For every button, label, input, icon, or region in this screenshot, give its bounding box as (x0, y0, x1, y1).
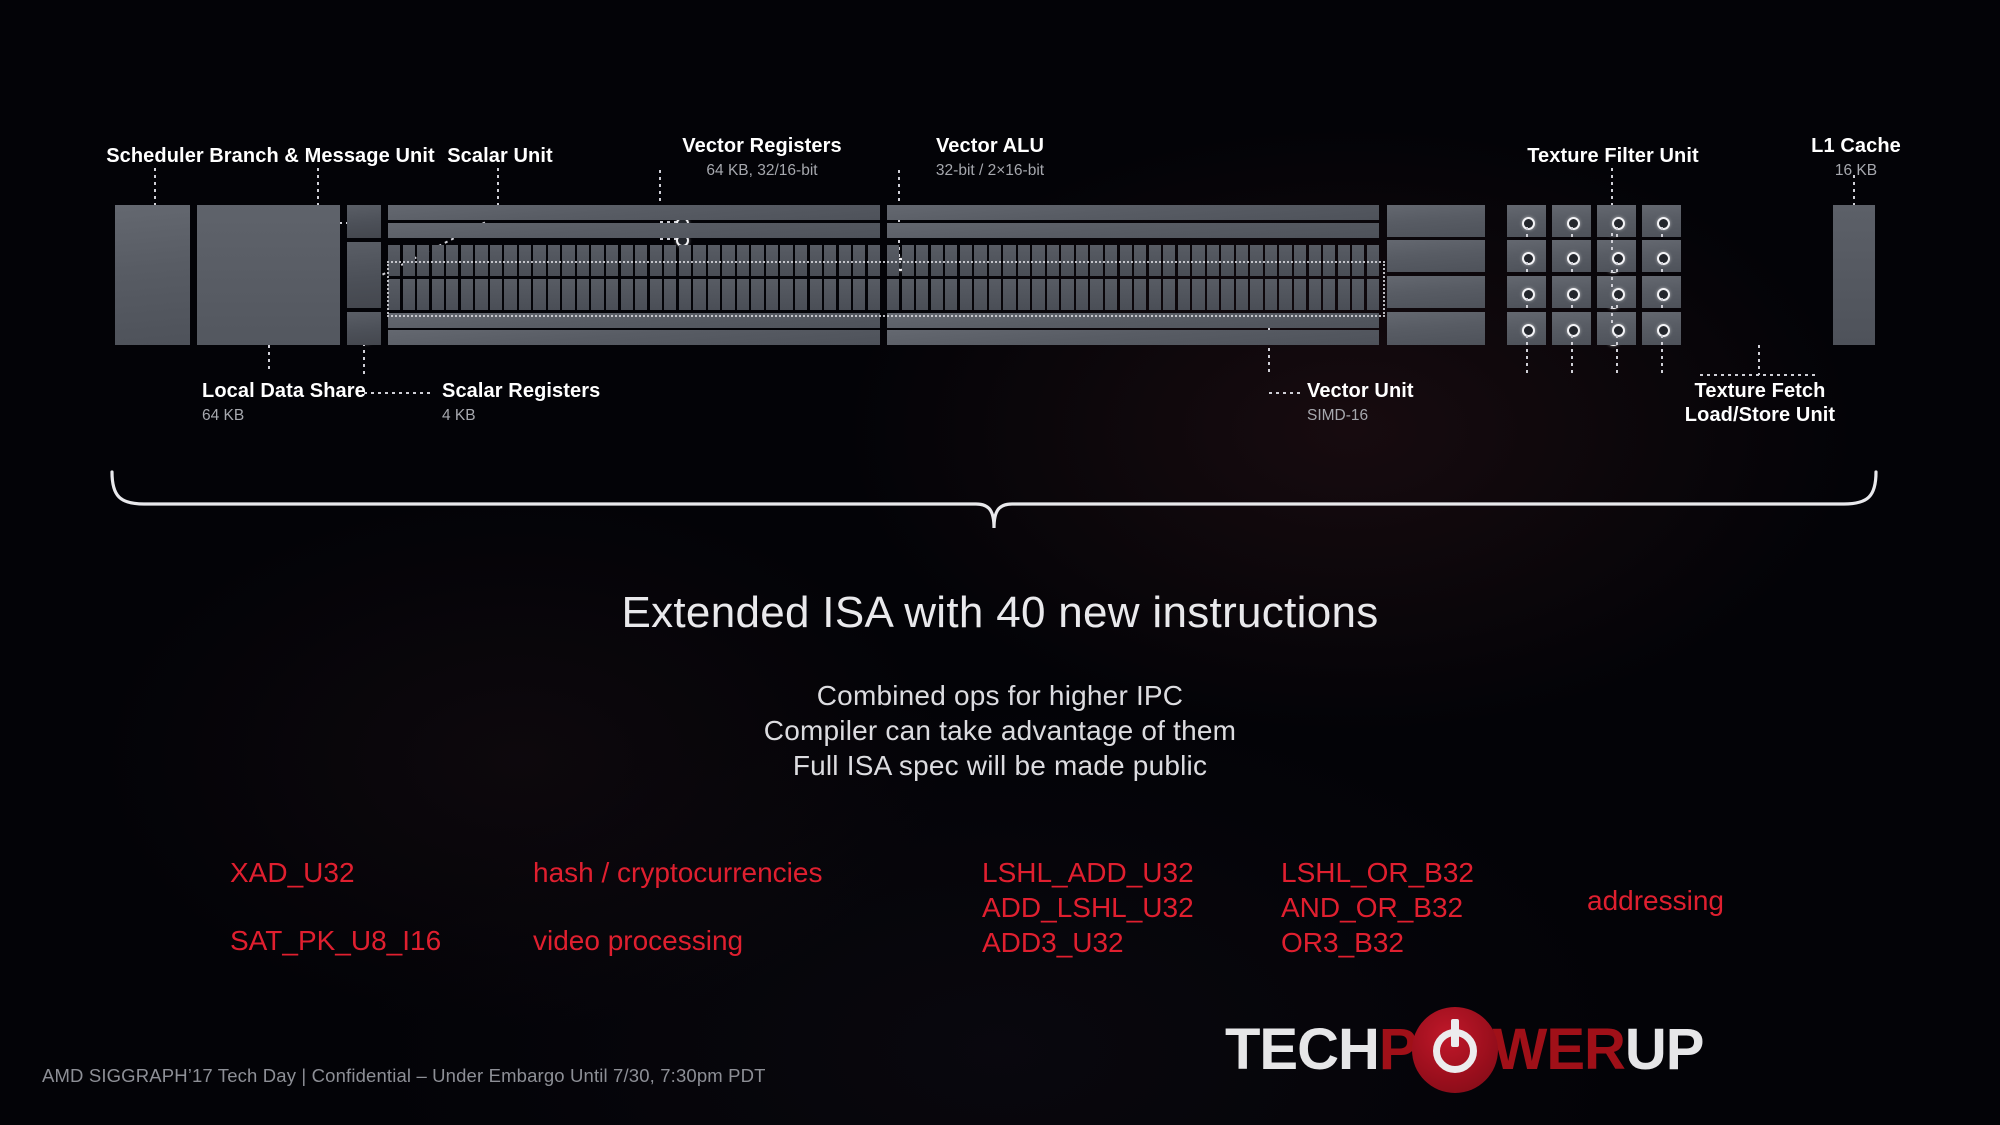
anchor-texture-fetch (1657, 288, 1670, 301)
valu-cell (1061, 245, 1073, 276)
valu-cell (446, 245, 458, 276)
valu-cell (1178, 245, 1190, 276)
valu-cell (887, 245, 899, 276)
label-scalar-registers: Scalar Registers 4 KB (442, 380, 600, 425)
label-title: Scheduler (106, 145, 204, 169)
bullet-2: Full ISA spec will be made public (0, 750, 2000, 782)
vreg-row-bot-1 (887, 313, 1379, 328)
valu-cell (388, 245, 400, 276)
block-texture-filter-3 (1387, 276, 1485, 308)
logo-wer-text: WER (1493, 1021, 1625, 1079)
valu-cell (475, 279, 487, 310)
isa-instruction-table: XAD_U32SAT_PK_U8_I16hash / cryptocurrenc… (0, 855, 2000, 985)
valu-cell (780, 279, 792, 310)
anchor-texture-fetch (1567, 288, 1580, 301)
valu-cell (795, 279, 807, 310)
isa-instruction: ADD_LSHL_U32 (982, 890, 1194, 925)
valu-cell (403, 279, 415, 310)
valu-cell (1163, 245, 1175, 276)
anchor-texture-fetch (1657, 324, 1670, 337)
valu-cell (737, 279, 749, 310)
vreg-row-top-2 (388, 223, 880, 238)
valu-cell (1134, 245, 1146, 276)
label-scheduler: Scheduler (106, 145, 204, 169)
block-scalar-top (347, 205, 381, 238)
valu-cell (1236, 279, 1248, 310)
label-sub: SIMD-16 (1307, 406, 1414, 425)
valu-cell (902, 279, 914, 310)
label-title: Texture Filter Unit (1527, 145, 1699, 169)
valu-cell (1192, 279, 1204, 310)
valu-cell (606, 279, 618, 310)
valu-cell (650, 245, 662, 276)
valu-cell (1192, 245, 1204, 276)
block-l1-cache (1833, 205, 1875, 345)
valu-cell (1105, 279, 1117, 310)
vector-bank-right (887, 205, 1379, 345)
valu-cell (1090, 245, 1102, 276)
isa-instruction: video processing (533, 923, 822, 958)
valu-cell (1032, 279, 1044, 310)
valu-cell (417, 279, 429, 310)
anchor-texture-fetch (1657, 252, 1670, 265)
valu-cell (548, 279, 560, 310)
anchor-texture-fetch (1567, 217, 1580, 230)
valu-cell (621, 279, 633, 310)
isa-instruction: XAD_U32 (230, 855, 441, 890)
valu-cell (1061, 279, 1073, 310)
valu-cell (1309, 245, 1321, 276)
label-sub: 64 KB (202, 406, 366, 425)
valu-cell (887, 279, 899, 310)
leader-texture-filter-seg (1611, 233, 1613, 254)
valu-cell (708, 245, 720, 276)
valu-cell (960, 279, 972, 310)
valu-cell (916, 245, 928, 276)
label-texture-fetch: Texture Fetch Load/Store Unit (1685, 380, 1835, 427)
label-title: Branch & Message Unit (209, 145, 435, 169)
valu-cell (960, 245, 972, 276)
valu-cell (1265, 279, 1277, 310)
valu-cell (591, 279, 603, 310)
valu-cell (810, 245, 822, 276)
valu-cell (562, 279, 574, 310)
isa-instruction: LSHL_OR_B32 (1281, 855, 1474, 890)
valu-cell (868, 245, 880, 276)
anchor-texture-fetch (1522, 324, 1535, 337)
leader-texture-fetch-tail (1616, 335, 1618, 377)
valu-cell (1003, 279, 1015, 310)
valu-cell (1338, 279, 1350, 310)
label-title: Local Data Share (202, 380, 366, 404)
label-vector-registers: Vector Registers 64 KB, 32/16-bit (682, 135, 841, 180)
label-vector-alu: Vector ALU 32-bit / 2×16-bit (936, 135, 1044, 180)
valu-cell (737, 245, 749, 276)
valu-cell (989, 245, 1001, 276)
valu-cell (1105, 245, 1117, 276)
valu-cell (446, 279, 458, 310)
valu-cell (621, 245, 633, 276)
valu-cell (388, 279, 400, 310)
anchor-texture-fetch (1657, 217, 1670, 230)
techpowerup-logo: TECH P WER UP (1225, 1015, 1703, 1085)
block-texture-filter-1 (1387, 205, 1485, 237)
valu-cell (1178, 279, 1190, 310)
label-texture-filter-unit: Texture Filter Unit (1527, 145, 1699, 169)
label-title: Vector Unit (1307, 380, 1414, 404)
valu-cell (931, 279, 943, 310)
block-texture-filter-2 (1387, 240, 1485, 272)
valu-cell (1018, 279, 1030, 310)
valu-cell (650, 279, 662, 310)
valu-cell (1250, 245, 1262, 276)
valu-cell (490, 245, 502, 276)
leader-vector-unit-h (1269, 392, 1301, 394)
valu-cell (989, 279, 1001, 310)
label-title: Scalar Unit (447, 145, 553, 169)
power-icon (1412, 1007, 1498, 1093)
leader-texture-fetch-tail (1571, 335, 1573, 377)
valu-cell (1279, 279, 1291, 310)
valu-cell (1018, 245, 1030, 276)
valu-cell (1294, 279, 1306, 310)
valu-cell (1265, 245, 1277, 276)
bullet-1: Compiler can take advantage of them (0, 715, 2000, 747)
valu-cell (1003, 245, 1015, 276)
valu-cell (1309, 279, 1321, 310)
valu-cell (751, 245, 763, 276)
leader-texture-fetch (1758, 345, 1760, 375)
valu-cell (902, 245, 914, 276)
valu-cell (1207, 279, 1219, 310)
footer-confidential-note: AMD SIGGRAPH’17 Tech Day | Confidential … (42, 1065, 766, 1087)
valu-cell (1163, 279, 1175, 310)
valu-cell (635, 279, 647, 310)
valu-cell (461, 245, 473, 276)
valu-cell (795, 245, 807, 276)
label-scalar-unit: Scalar Unit (447, 145, 553, 169)
valu-cell (708, 279, 720, 310)
col-bit: LSHL_OR_B32AND_OR_B32OR3_B32 (1281, 855, 1474, 960)
leader-texture-fetch-tail (1661, 335, 1663, 377)
valu-cell (664, 245, 676, 276)
valu-cell (519, 245, 531, 276)
leader-texture-fetch-h (1700, 374, 1818, 376)
leader-texture-filter-seg (1611, 306, 1613, 327)
valu-cell (591, 245, 603, 276)
logo-up-text: UP (1625, 1021, 1704, 1079)
valu-cell (1076, 279, 1088, 310)
valu-cell (931, 245, 943, 276)
valu-cell (432, 245, 444, 276)
isa-instruction: SAT_PK_U8_I16 (230, 923, 441, 958)
label-branch-message-unit: Branch & Message Unit (209, 145, 435, 169)
valu-cell (751, 279, 763, 310)
page-title: Extended ISA with 40 new instructions (0, 588, 2000, 638)
valu-cell (664, 279, 676, 310)
valu-cell (1134, 279, 1146, 310)
valu-cell (824, 279, 836, 310)
valu-cell (1323, 245, 1335, 276)
valu-cell (1221, 245, 1233, 276)
valu-cell (853, 245, 865, 276)
valu-cell (490, 279, 502, 310)
valu-cell (606, 245, 618, 276)
col-add: LSHL_ADD_U32ADD_LSHL_U32ADD3_U32 (982, 855, 1194, 960)
label-local-data-share: Local Data Share 64 KB (202, 380, 366, 425)
valu-cell (766, 279, 778, 310)
valu-cell (1207, 245, 1219, 276)
isa-instruction: ADD3_U32 (982, 925, 1194, 960)
label-title: L1 Cache (1811, 135, 1901, 159)
slide-canvas: Scheduler Branch & Message Unit Scalar U… (0, 0, 2000, 1125)
label-l1-cache: L1 Cache 16 KB (1811, 135, 1901, 180)
valu-cell (533, 279, 545, 310)
anchor-texture-fetch (1522, 288, 1535, 301)
bullet-0: Combined ops for higher IPC (0, 680, 2000, 712)
valu-cell (432, 279, 444, 310)
valu-cell (839, 279, 851, 310)
valu-cell (1352, 245, 1364, 276)
valu-cell (1352, 279, 1364, 310)
valu-cell (853, 279, 865, 310)
vreg-row-bot-2 (887, 330, 1379, 345)
block-local-data-share (197, 205, 340, 345)
valu-cell (868, 279, 880, 310)
label-title: Texture Fetch (1685, 380, 1835, 404)
label-title: Vector ALU (936, 135, 1044, 159)
valu-cell (1294, 245, 1306, 276)
anchor-texture-fetch (1522, 217, 1535, 230)
isa-instruction: addressing (1587, 883, 1724, 918)
anchor-texture-fetch (1612, 217, 1625, 230)
label-sub: 64 KB, 32/16-bit (682, 161, 841, 180)
leader-texture-fetch-tail (1526, 335, 1528, 377)
label-title-2: Load/Store Unit (1685, 404, 1835, 428)
valu-cell (1149, 245, 1161, 276)
block-texture-filter-4 (1387, 312, 1485, 345)
anchor-texture-fetch (1567, 252, 1580, 265)
vector-bank-left (388, 205, 880, 345)
anchor-texture-fetch (1567, 324, 1580, 337)
anchor-texture-fetch (1522, 252, 1535, 265)
valu-cell (766, 245, 778, 276)
valu-cell (1221, 279, 1233, 310)
valu-cell (533, 245, 545, 276)
valu-cell (1323, 279, 1335, 310)
valu-cell (824, 245, 836, 276)
valu-cell (577, 245, 589, 276)
vreg-row-bot-1 (388, 313, 880, 328)
valu-cell (548, 245, 560, 276)
valu-cell (577, 279, 589, 310)
valu-cell (945, 245, 957, 276)
valu-cell (1236, 245, 1248, 276)
valu-cell (1090, 279, 1102, 310)
label-vector-unit: Vector Unit SIMD-16 (1307, 380, 1414, 425)
valu-cell (1047, 279, 1059, 310)
valu-cell (417, 245, 429, 276)
valu-cell (693, 279, 705, 310)
col-addr: addressing (1587, 883, 1724, 918)
valu-cell (562, 245, 574, 276)
valu-cell (1338, 245, 1350, 276)
block-scalar-mid (347, 242, 381, 308)
anchor-texture-fetch (1612, 324, 1625, 337)
leader-texture-filter-seg (1611, 270, 1613, 290)
valu-cell (1250, 279, 1262, 310)
valu-cell (403, 245, 415, 276)
isa-instruction: LSHL_ADD_U32 (982, 855, 1194, 890)
grouping-brace (110, 470, 1878, 530)
vreg-row-top-2 (887, 223, 1379, 238)
texture-fetch-grid (1507, 205, 1681, 345)
label-sub: 32-bit / 2×16-bit (936, 161, 1044, 180)
valu-cell (693, 245, 705, 276)
valu-cell (722, 245, 734, 276)
vreg-row-bot-2 (388, 330, 880, 345)
valu-cell (475, 245, 487, 276)
valu-cell (504, 245, 516, 276)
leader-scalar-registers-h (364, 392, 432, 394)
vreg-row-top-1 (887, 205, 1379, 220)
valu-cell (974, 279, 986, 310)
vreg-row-top-1 (388, 205, 880, 220)
label-title: Scalar Registers (442, 380, 600, 404)
valu-cell (1120, 279, 1132, 310)
valu-cell (722, 279, 734, 310)
label-sub: 4 KB (442, 406, 600, 425)
valu-cell (679, 279, 691, 310)
valu-cell (1076, 245, 1088, 276)
valu-cell (1032, 245, 1044, 276)
logo-tech-text: TECH (1225, 1021, 1379, 1079)
leader-scalar-unit (497, 168, 499, 210)
valu-cell (679, 245, 691, 276)
valu-cell (1279, 245, 1291, 276)
valu-cell (945, 279, 957, 310)
valu-cell (635, 245, 647, 276)
valu-cell (916, 279, 928, 310)
isa-instruction: OR3_B32 (1281, 925, 1474, 960)
valu-cell (519, 279, 531, 310)
valu-cell (1367, 245, 1379, 276)
block-scheduler (115, 205, 190, 345)
isa-instruction: AND_OR_B32 (1281, 890, 1474, 925)
block-scalar-bottom (347, 312, 381, 345)
valu-cell (974, 245, 986, 276)
valu-cell (504, 279, 516, 310)
valu-cell (1047, 245, 1059, 276)
valu-cell (810, 279, 822, 310)
valu-cell (1367, 279, 1379, 310)
label-title: Vector Registers (682, 135, 841, 159)
valu-cell (780, 245, 792, 276)
col-uses: hash / cryptocurrenciesvideo processing (533, 855, 822, 958)
valu-cell (839, 245, 851, 276)
valu-cell (1149, 279, 1161, 310)
col-xad: XAD_U32SAT_PK_U8_I16 (230, 855, 441, 958)
valu-cell (461, 279, 473, 310)
anchor-texture-fetch (1612, 288, 1625, 301)
anchor-texture-fetch (1612, 252, 1625, 265)
valu-cell (1120, 245, 1132, 276)
label-sub: 16 KB (1811, 161, 1901, 180)
isa-instruction: hash / cryptocurrencies (533, 855, 822, 890)
